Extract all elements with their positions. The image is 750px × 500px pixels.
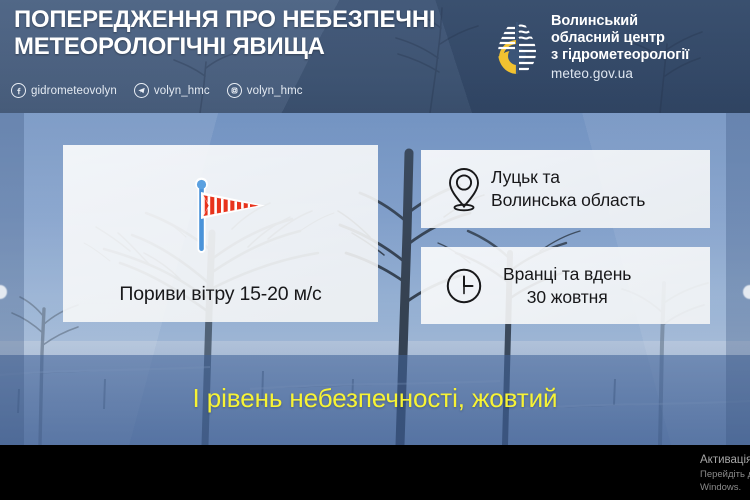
watermark-line-2: Перейдіть до — [700, 468, 750, 481]
location-line-2: Волинська область — [491, 189, 645, 212]
location-line-1: Луцьк та — [491, 167, 560, 187]
edge-dot-left — [0, 285, 7, 299]
watermark-line-1: Активація — [700, 453, 750, 468]
social-link-instagram[interactable]: volyn_hmc — [227, 83, 303, 98]
hydrometeorology-drop-logo — [491, 12, 543, 82]
organization-name: Волинський обласний центр з гідрометеоро… — [551, 12, 689, 83]
social-links: gidrometeovolyn volyn_hmc — [11, 83, 303, 98]
social-handle-instagram: volyn_hmc — [247, 85, 303, 97]
clock-icon — [445, 263, 483, 309]
title-line-1: ПОПЕРЕДЖЕННЯ ПРО НЕБЕЗПЕЧНІ — [14, 6, 472, 33]
telegram-icon — [134, 83, 149, 98]
infographic-canvas: Пориви вітру 15-20 м/с Луцьк та Волинськ… — [0, 0, 750, 500]
map-pin-icon — [445, 166, 483, 212]
org-website[interactable]: meteo.gov.ua — [551, 65, 689, 83]
edge-dot-right — [743, 285, 750, 299]
bottom-black-bar: Активація Перейдіть до Windows. — [0, 445, 750, 500]
wind-flag-icon — [173, 173, 269, 257]
wind-caption: Пориви вітру 15-20 м/с — [63, 283, 378, 306]
org-line-2: обласний центр — [551, 30, 689, 47]
windows-activation-watermark: Активація Перейдіть до Windows. — [700, 453, 750, 494]
time-panel: Вранці та вдень 30 жовтня — [421, 247, 710, 324]
time-line-2: 30 жовтня — [503, 286, 631, 309]
title-line-2: МЕТЕОРОЛОГІЧНІ ЯВИЩА — [14, 33, 472, 60]
social-link-telegram[interactable]: volyn_hmc — [134, 83, 210, 98]
header-banner: ПОПЕРЕДЖЕННЯ ПРО НЕБЕЗПЕЧНІ МЕТЕОРОЛОГІЧ… — [0, 0, 750, 113]
wind-warning-panel: Пориви вітру 15-20 м/с — [63, 145, 378, 322]
page-title: ПОПЕРЕДЖЕННЯ ПРО НЕБЕЗПЕЧНІ МЕТЕОРОЛОГІЧ… — [14, 6, 472, 60]
watermark-line-3: Windows. — [700, 481, 750, 494]
org-line-1: Волинський — [551, 13, 689, 30]
social-link-facebook[interactable]: gidrometeovolyn — [11, 83, 117, 98]
time-line-1: Вранці та вдень — [503, 264, 631, 284]
location-text: Луцьк та Волинська область — [491, 166, 645, 212]
social-handle-telegram: volyn_hmc — [154, 85, 210, 97]
organization-logo-block: Волинський обласний центр з гідрометеоро… — [491, 12, 689, 83]
photo-background: Пориви вітру 15-20 м/с Луцьк та Волинськ… — [0, 113, 750, 445]
danger-level-text: І рівень небезпечності, жовтий — [0, 383, 750, 414]
facebook-icon — [11, 83, 26, 98]
instagram-icon — [227, 83, 242, 98]
location-panel: Луцьк та Волинська область — [421, 150, 710, 228]
social-handle-facebook: gidrometeovolyn — [31, 85, 117, 97]
time-text: Вранці та вдень 30 жовтня — [503, 263, 631, 309]
org-line-3: з гідрометеорологіï — [551, 47, 689, 64]
